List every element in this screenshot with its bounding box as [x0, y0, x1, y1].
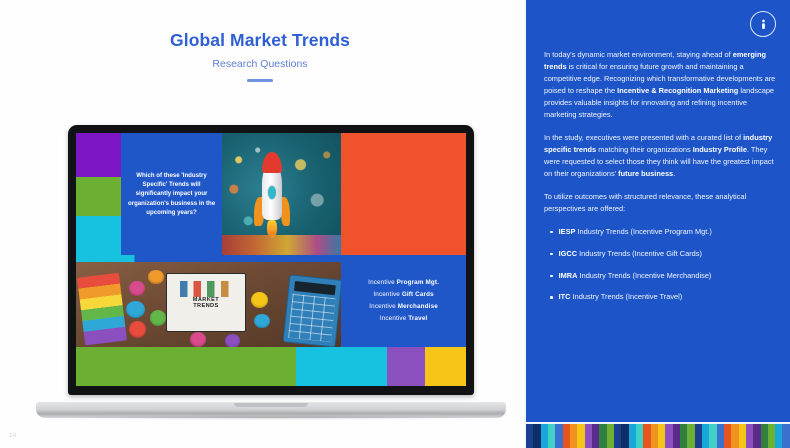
title-block: Global Market Trends Research Questions [0, 30, 520, 82]
title-divider [247, 79, 273, 82]
screen-footer-bar [76, 347, 466, 386]
bullet-label: Industry Trends (Incentive Gift Cards) [577, 249, 702, 258]
bullet-code: IMRA [559, 271, 578, 280]
list-item-bold: Gift Cards [402, 291, 434, 298]
list-item-bold: Program Mgt. [397, 279, 439, 286]
candy-piece [150, 310, 166, 326]
rocket-icon [254, 152, 290, 232]
p2-text-b: matching their organizations [596, 145, 693, 154]
bullet-dot-icon [550, 253, 553, 256]
candy-piece [225, 334, 241, 347]
candy-piece [129, 281, 145, 297]
laptop-mockup: Which of these 'Industry Specific' Trend… [36, 125, 506, 420]
color-stripe [768, 424, 775, 448]
color-stripe [761, 424, 768, 448]
list-item: Incentive Program Mgt. [368, 279, 439, 286]
candy-piece [190, 332, 206, 347]
color-stripe [782, 424, 789, 448]
footer-swatch-green [76, 347, 296, 386]
rocket-nose [262, 152, 282, 173]
bullet-label: Industry Trends (Incentive Merchandise) [577, 271, 711, 280]
bullet-code: IESP [559, 227, 576, 236]
bullet-text: IMRA Industry Trends (Incentive Merchand… [559, 270, 712, 282]
screen-top-row: Which of these 'Industry Specific' Trend… [76, 133, 466, 255]
color-stripe [555, 424, 562, 448]
page-title: Global Market Trends [0, 30, 520, 51]
color-stripe [614, 424, 621, 448]
color-stripe [775, 424, 782, 448]
list-item: IGCC Industry Trends (Incentive Gift Car… [544, 248, 777, 260]
bullet-text: ITC Industry Trends (Incentive Travel) [559, 291, 683, 303]
analytical-perspectives-list: IESP Industry Trends (Incentive Program … [544, 226, 777, 303]
list-item-bold: Merchandise [398, 303, 438, 310]
p1-text-a: In today's dynamic market environment, s… [544, 50, 733, 59]
orange-block [341, 133, 466, 255]
color-stripe [636, 424, 643, 448]
market-trends-card: MARKET TRENDS [166, 273, 246, 332]
panel-paragraph-1: In today's dynamic market environment, s… [544, 49, 777, 121]
color-stripe [709, 424, 716, 448]
color-stripe [651, 424, 658, 448]
list-item: IMRA Industry Trends (Incentive Merchand… [544, 270, 777, 282]
right-info-panel: In today's dynamic market environment, s… [524, 0, 790, 448]
panel-paragraph-3: To utilize outcomes with structured rele… [544, 191, 777, 215]
list-item: ITC Industry Trends (Incentive Travel) [544, 291, 777, 303]
list-item-bold: Travel [408, 315, 427, 322]
slide-root: Global Market Trends Research Questions [0, 0, 790, 448]
p2-bold-b: Industry Profile [693, 145, 747, 154]
footer-swatch-cyan [296, 347, 386, 386]
rainbow-notepad [77, 273, 127, 346]
desk-photo: MARKET TRENDS [76, 255, 341, 347]
calculator-display [294, 281, 336, 296]
color-stripe [621, 424, 628, 448]
market-card-line-2: TRENDS [193, 303, 218, 309]
color-stripe [673, 424, 680, 448]
bullet-code: ITC [559, 292, 571, 301]
color-stripe [746, 424, 753, 448]
color-stripe [541, 424, 548, 448]
rocket-window [267, 185, 277, 200]
footer-swatch-purple [387, 347, 426, 386]
color-stripe [680, 424, 687, 448]
question-panel: Which of these 'Industry Specific' Trend… [121, 133, 222, 255]
color-stripe [739, 424, 746, 448]
color-stripe [533, 424, 540, 448]
list-item: Incentive Travel [380, 315, 428, 322]
calculator-object [282, 274, 341, 346]
bullet-code: IGCC [559, 249, 577, 258]
p2-bold-c: future business [618, 169, 673, 178]
card-icon-row [175, 281, 237, 297]
right-panel-body: In today's dynamic market environment, s… [544, 49, 777, 313]
color-stripe [753, 424, 760, 448]
slide-number: 14 [9, 433, 16, 439]
candy-piece [126, 301, 145, 318]
p1-bold-b: Incentive & Recognition Marketing [617, 86, 738, 95]
color-stripe [592, 424, 599, 448]
color-stripe [526, 424, 533, 448]
list-item: IESP Industry Trends (Incentive Program … [544, 226, 777, 238]
color-swatch-column [76, 133, 121, 255]
color-stripe [695, 424, 702, 448]
candy-piece [251, 292, 268, 309]
list-item-plain: Incentive [373, 291, 401, 298]
swatch-purple [76, 133, 121, 177]
category-list-panel: Incentive Program Mgt. Incentive Gift Ca… [341, 255, 466, 347]
question-text: Which of these 'Industry Specific' Trend… [126, 171, 217, 217]
bullet-label: Industry Trends (Incentive Program Mgt.) [575, 227, 711, 236]
screen-bottom-row: MARKET TRENDS Incentive Program Mgt. [76, 255, 466, 347]
color-stripe [577, 424, 584, 448]
candy-piece [129, 321, 146, 338]
bullet-dot-icon [550, 296, 553, 299]
bullet-text: IESP Industry Trends (Incentive Program … [559, 226, 712, 238]
rocket-illustration [222, 133, 341, 255]
rocket-fin-right [281, 197, 290, 226]
bullet-dot-icon [550, 275, 553, 278]
color-stripe [548, 424, 555, 448]
bullet-text: IGCC Industry Trends (Incentive Gift Car… [559, 248, 702, 260]
color-stripe [629, 424, 636, 448]
color-stripe [658, 424, 665, 448]
laptop-shadow [42, 415, 500, 420]
color-stripe [563, 424, 570, 448]
p2-text-a: In the study, executives were presented … [544, 133, 743, 142]
page-subtitle: Research Questions [0, 58, 520, 70]
color-stripe [607, 424, 614, 448]
candy-piece [254, 314, 270, 329]
list-item-plain: Incentive [368, 279, 396, 286]
color-stripe [687, 424, 694, 448]
list-item-plain: Incentive [380, 315, 408, 322]
color-stripe [599, 424, 606, 448]
color-stripe [665, 424, 672, 448]
color-stripe [724, 424, 731, 448]
photo-top-band [76, 255, 341, 262]
list-item: Incentive Merchandise [369, 303, 438, 310]
panel-paragraph-2: In the study, executives were presented … [544, 132, 777, 180]
laptop-screen: Which of these 'Industry Specific' Trend… [76, 133, 466, 386]
bullet-dot-icon [550, 231, 553, 234]
list-item: Incentive Gift Cards [373, 291, 433, 298]
calculator-keys [288, 294, 335, 342]
color-stripe [731, 424, 738, 448]
candy-piece [148, 270, 164, 285]
laptop-notch [234, 403, 308, 407]
color-stripe [702, 424, 709, 448]
color-stripe-bar [526, 422, 790, 448]
color-stripe [643, 424, 650, 448]
desk-foreground [222, 235, 341, 254]
color-stripe [717, 424, 724, 448]
laptop-lid: Which of these 'Industry Specific' Trend… [68, 125, 474, 395]
footer-swatch-yellow [425, 347, 466, 386]
info-icon[interactable] [750, 11, 776, 37]
list-item-plain: Incentive [369, 303, 397, 310]
bullet-label: Industry Trends (Incentive Travel) [571, 292, 683, 301]
color-stripe [570, 424, 577, 448]
color-stripe [585, 424, 592, 448]
swatch-cyan [76, 216, 121, 255]
left-content-pane: Global Market Trends Research Questions [0, 0, 520, 448]
p2-text-d: . [673, 169, 675, 178]
screen-content: Which of these 'Industry Specific' Trend… [76, 133, 466, 347]
swatch-green [76, 177, 121, 216]
